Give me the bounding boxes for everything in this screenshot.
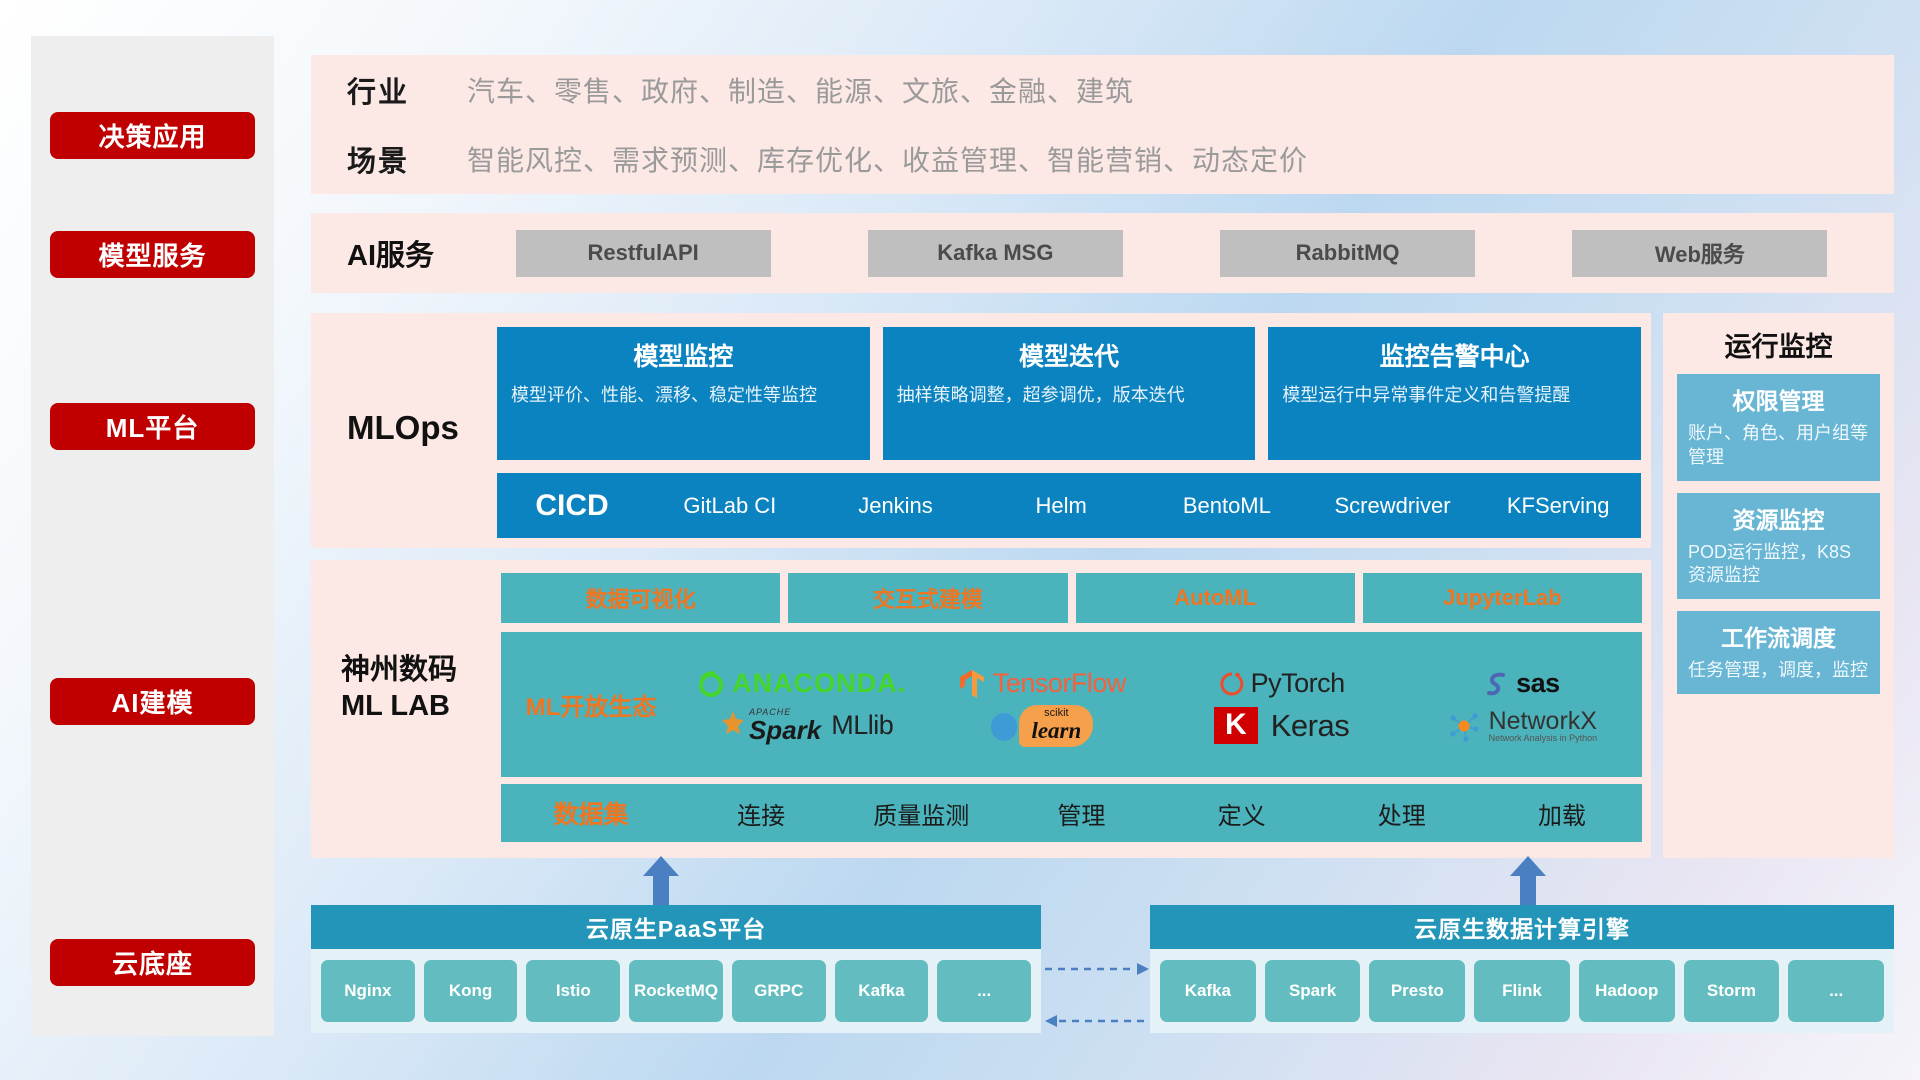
- networkx-icon: [1447, 709, 1483, 743]
- industry-key: 行业: [347, 69, 467, 111]
- paas-to-compute-arrow-icon: [1045, 962, 1149, 976]
- compute-item-spark[interactable]: Spark: [1265, 960, 1361, 1022]
- sas-logo: sas: [1484, 668, 1560, 699]
- layer-chip-decision-app[interactable]: 决策应用: [50, 112, 255, 159]
- ml-ecosystem-label: ML开放生态: [501, 687, 681, 722]
- scikit-blue-blob-icon: [989, 709, 1019, 743]
- tensorflow-wordmark: TensorFlow: [993, 668, 1126, 699]
- monitor-card-title: 资源监控: [1688, 501, 1869, 535]
- runtime-monitor-panel: 运行监控 权限管理 账户、角色、用户组等管理 资源监控 POD运行监控，K8S资…: [1663, 313, 1894, 858]
- paas-item-istio[interactable]: Istio: [526, 960, 620, 1022]
- dataset-item-quality-monitor[interactable]: 质量监测: [841, 796, 1001, 831]
- compute-up-arrow-icon: [1508, 856, 1548, 908]
- scenario-row: 场景 智能风控、需求预测、库存优化、收益管理、智能营销、动态定价: [311, 124, 1894, 193]
- compute-item-presto[interactable]: Presto: [1369, 960, 1465, 1022]
- ml-lab-key-line1: 神州数码: [341, 652, 501, 688]
- compute-item-flink[interactable]: Flink: [1474, 960, 1570, 1022]
- compute-item-kafka[interactable]: Kafka: [1160, 960, 1256, 1022]
- scenario-key: 场景: [347, 138, 467, 180]
- paas-item-nginx[interactable]: Nginx: [321, 960, 415, 1022]
- monitor-card-title: 工作流调度: [1688, 619, 1869, 653]
- scikit-learn-wordmark: learn: [1031, 719, 1081, 742]
- mlops-card-alert-center[interactable]: 监控告警中心 模型运行中异常事件定义和告警提醒: [1268, 327, 1641, 460]
- scikit-learn-badge: scikit learn: [1019, 705, 1093, 747]
- mlops-card-list: 模型监控 模型评价、性能、漂移、稳定性等监控 模型迭代 抽样策略调整，超参调优，…: [497, 327, 1641, 460]
- cloud-native-compute-group: 云原生数据计算引擎 Kafka Spark Presto Flink Hadoo…: [1150, 905, 1894, 1033]
- anaconda-icon: [696, 669, 726, 699]
- cicd-item-helm[interactable]: Helm: [978, 490, 1144, 522]
- paas-title: 云原生PaaS平台: [311, 905, 1041, 949]
- runtime-monitor-title: 运行监控: [1663, 313, 1894, 374]
- cicd-item-kfserving[interactable]: KFServing: [1475, 490, 1641, 522]
- mlops-key: MLOps: [347, 409, 497, 447]
- networkx-wordmark: NetworkX: [1489, 708, 1598, 734]
- paas-item-rocketmq[interactable]: RocketMQ: [629, 960, 723, 1022]
- ai-service-item-label: Kafka MSG: [937, 240, 1053, 266]
- ai-service-item-web-service[interactable]: Web服务: [1572, 230, 1827, 277]
- mlops-card-model-monitoring[interactable]: 模型监控 模型评价、性能、漂移、稳定性等监控: [497, 327, 870, 460]
- cicd-item-gitlab-ci[interactable]: GitLab CI: [647, 490, 813, 522]
- monitor-card-desc: 任务管理，调度，监控: [1688, 659, 1869, 683]
- decision-application-panel: 行业 汽车、零售、政府、制造、能源、文旅、金融、建筑 场景 智能风控、需求预测、…: [311, 55, 1894, 194]
- dataset-label: 数据集: [501, 795, 681, 831]
- scikit-learn-logo: scikit learn: [989, 705, 1093, 747]
- ml-lab-tab-automl[interactable]: AutoML: [1076, 573, 1355, 623]
- ml-lab-tab-list: 数据可视化 交互式建模 AutoML JupyterLab: [501, 573, 1642, 623]
- anaconda-wordmark: ANACONDA.: [732, 668, 906, 699]
- paas-item-more[interactable]: ...: [937, 960, 1031, 1022]
- ml-lab-key-line2: ML LAB: [341, 688, 501, 724]
- keras-wordmark: Keras: [1271, 708, 1349, 744]
- dataset-item-connect[interactable]: 连接: [681, 796, 841, 831]
- paas-item-grpc[interactable]: GRPC: [732, 960, 826, 1022]
- mlops-card-title: 模型监控: [511, 337, 856, 373]
- monitor-card-permission[interactable]: 权限管理 账户、角色、用户组等管理: [1677, 374, 1880, 481]
- compute-item-hadoop[interactable]: Hadoop: [1579, 960, 1675, 1022]
- cicd-label: CICD: [497, 489, 647, 523]
- layer-chip-label: ML平台: [106, 408, 200, 445]
- compute-item-storm[interactable]: Storm: [1684, 960, 1780, 1022]
- scenario-value: 智能风控、需求预测、库存优化、收益管理、智能营销、动态定价: [467, 139, 1308, 179]
- paas-up-arrow-icon: [641, 856, 681, 908]
- layer-rail: [31, 36, 274, 1036]
- pytorch-wordmark: PyTorch: [1251, 668, 1345, 699]
- spark-wordmark-group: APACHE Spark: [749, 708, 821, 743]
- keras-logo: K Keras: [1214, 707, 1349, 744]
- compute-item-list: Kafka Spark Presto Flink Hadoop Storm ..…: [1150, 949, 1894, 1033]
- mlops-card-title: 监控告警中心: [1282, 337, 1627, 373]
- anaconda-logo: ANACONDA.: [696, 668, 906, 699]
- industry-row: 行业 汽车、零售、政府、制造、能源、文旅、金融、建筑: [311, 55, 1894, 124]
- compute-item-more[interactable]: ...: [1788, 960, 1884, 1022]
- dataset-bar: 数据集 连接 质量监测 管理 定义 处理 加载: [501, 784, 1642, 842]
- cloud-native-paas-group: 云原生PaaS平台 Nginx Kong Istio RocketMQ GRPC…: [311, 905, 1041, 1033]
- mlops-panel: MLOps 模型监控 模型评价、性能、漂移、稳定性等监控 模型迭代 抽样策略调整…: [311, 313, 1651, 548]
- dataset-item-define[interactable]: 定义: [1162, 796, 1322, 831]
- pytorch-icon: [1219, 669, 1245, 699]
- ai-service-item-kafka-msg[interactable]: Kafka MSG: [868, 230, 1123, 277]
- mlops-card-desc: 模型评价、性能、漂移、稳定性等监控: [511, 383, 856, 407]
- ml-lab-panel: 神州数码 ML LAB 数据可视化 交互式建模 AutoML JupyterLa…: [311, 560, 1651, 858]
- ml-lab-tab-data-visualization[interactable]: 数据可视化: [501, 573, 780, 623]
- cicd-item-bentoml[interactable]: BentoML: [1144, 490, 1310, 522]
- sas-icon: [1484, 670, 1510, 698]
- pytorch-logo: PyTorch: [1219, 668, 1345, 699]
- mlops-card-desc: 抽样策略调整，超参调优，版本迭代: [897, 383, 1242, 407]
- monitor-card-resource[interactable]: 资源监控 POD运行监控，K8S资源监控: [1677, 493, 1880, 600]
- spark-wordmark: Spark: [749, 717, 821, 743]
- ai-service-item-label: RabbitMQ: [1296, 240, 1400, 266]
- monitor-card-title: 权限管理: [1688, 382, 1869, 416]
- layer-chip-label: AI建模: [111, 683, 193, 720]
- ai-service-list: RestfulAPI Kafka MSG RabbitMQ Web服务: [467, 230, 1894, 277]
- cicd-item-list: GitLab CI Jenkins Helm BentoML Screwdriv…: [647, 490, 1641, 522]
- networkx-wordmark-group: NetworkX Network Analysis in Python: [1489, 708, 1598, 744]
- networkx-tagline: Network Analysis in Python: [1489, 734, 1598, 743]
- layer-chip-ml-platform[interactable]: ML平台: [50, 403, 255, 450]
- sas-wordmark: sas: [1516, 668, 1560, 699]
- networkx-logo: NetworkX Network Analysis in Python: [1447, 708, 1598, 744]
- ai-service-item-label: RestfulAPI: [588, 240, 699, 266]
- layer-chip-label: 云底座: [112, 944, 193, 981]
- layer-chip-cloud-base[interactable]: 云底座: [50, 939, 255, 986]
- monitor-card-desc: POD运行监控，K8S资源监控: [1688, 541, 1869, 589]
- cicd-bar: CICD GitLab CI Jenkins Helm BentoML Scre…: [497, 473, 1641, 538]
- dataset-item-manage[interactable]: 管理: [1001, 796, 1161, 831]
- ml-lab-key: 神州数码 ML LAB: [341, 652, 501, 725]
- ml-ecosystem-logo-grid: ANACONDA. TensorFlow PyTorch: [681, 663, 1642, 747]
- ai-service-item-rabbitmq[interactable]: RabbitMQ: [1220, 230, 1475, 277]
- keras-mark-icon: K: [1214, 707, 1258, 744]
- mllib-wordmark: MLlib: [831, 710, 893, 741]
- spark-icon: [709, 709, 743, 743]
- mlops-card-desc: 模型运行中异常事件定义和告警提醒: [1282, 383, 1627, 407]
- dataset-item-list: 连接 质量监测 管理 定义 处理 加载: [681, 796, 1642, 831]
- compute-to-paas-arrow-icon: [1045, 1014, 1149, 1028]
- monitor-card-desc: 账户、角色、用户组等管理: [1688, 422, 1869, 470]
- ml-ecosystem-bar: ML开放生态 ANACONDA. TensorFlow: [501, 632, 1642, 777]
- cicd-item-jenkins[interactable]: Jenkins: [813, 490, 979, 522]
- spark-mllib-logo: APACHE Spark MLlib: [709, 708, 893, 743]
- paas-item-list: Nginx Kong Istio RocketMQ GRPC Kafka ...: [311, 949, 1041, 1033]
- tensorflow-logo: TensorFlow: [957, 668, 1126, 700]
- layer-chip-ai-modeling[interactable]: AI建模: [50, 678, 255, 725]
- industry-value: 汽车、零售、政府、制造、能源、文旅、金融、建筑: [467, 70, 1134, 110]
- ai-service-key: AI服务: [347, 232, 467, 274]
- dataset-item-process[interactable]: 处理: [1322, 796, 1482, 831]
- layer-chip-label: 模型服务: [98, 236, 206, 273]
- ml-lab-tab-interactive-modeling[interactable]: 交互式建模: [788, 573, 1067, 623]
- monitor-card-workflow[interactable]: 工作流调度 任务管理，调度，监控: [1677, 611, 1880, 694]
- layer-chip-label: 决策应用: [98, 117, 206, 154]
- ml-lab-tab-jupyterlab[interactable]: JupyterLab: [1363, 573, 1642, 623]
- mlops-card-model-iteration[interactable]: 模型迭代 抽样策略调整，超参调优，版本迭代: [883, 327, 1256, 460]
- compute-title: 云原生数据计算引擎: [1150, 905, 1894, 949]
- paas-item-kafka[interactable]: Kafka: [835, 960, 929, 1022]
- ai-service-panel: AI服务 RestfulAPI Kafka MSG RabbitMQ Web服务: [311, 213, 1894, 293]
- layer-chip-model-service[interactable]: 模型服务: [50, 231, 255, 278]
- scikit-sub: scikit: [1044, 708, 1068, 719]
- diagram-canvas: 决策应用 模型服务 ML平台 AI建模 云底座 行业 汽车、零售、政府、制造、能…: [0, 0, 1920, 1080]
- tensorflow-icon: [957, 668, 987, 700]
- ai-service-item-restfulapi[interactable]: RestfulAPI: [516, 230, 771, 277]
- paas-item-kong[interactable]: Kong: [424, 960, 518, 1022]
- mlops-card-title: 模型迭代: [897, 337, 1242, 373]
- dataset-item-load[interactable]: 加载: [1482, 796, 1642, 831]
- ai-service-item-label: Web服务: [1655, 237, 1745, 269]
- cicd-item-screwdriver[interactable]: Screwdriver: [1310, 490, 1476, 522]
